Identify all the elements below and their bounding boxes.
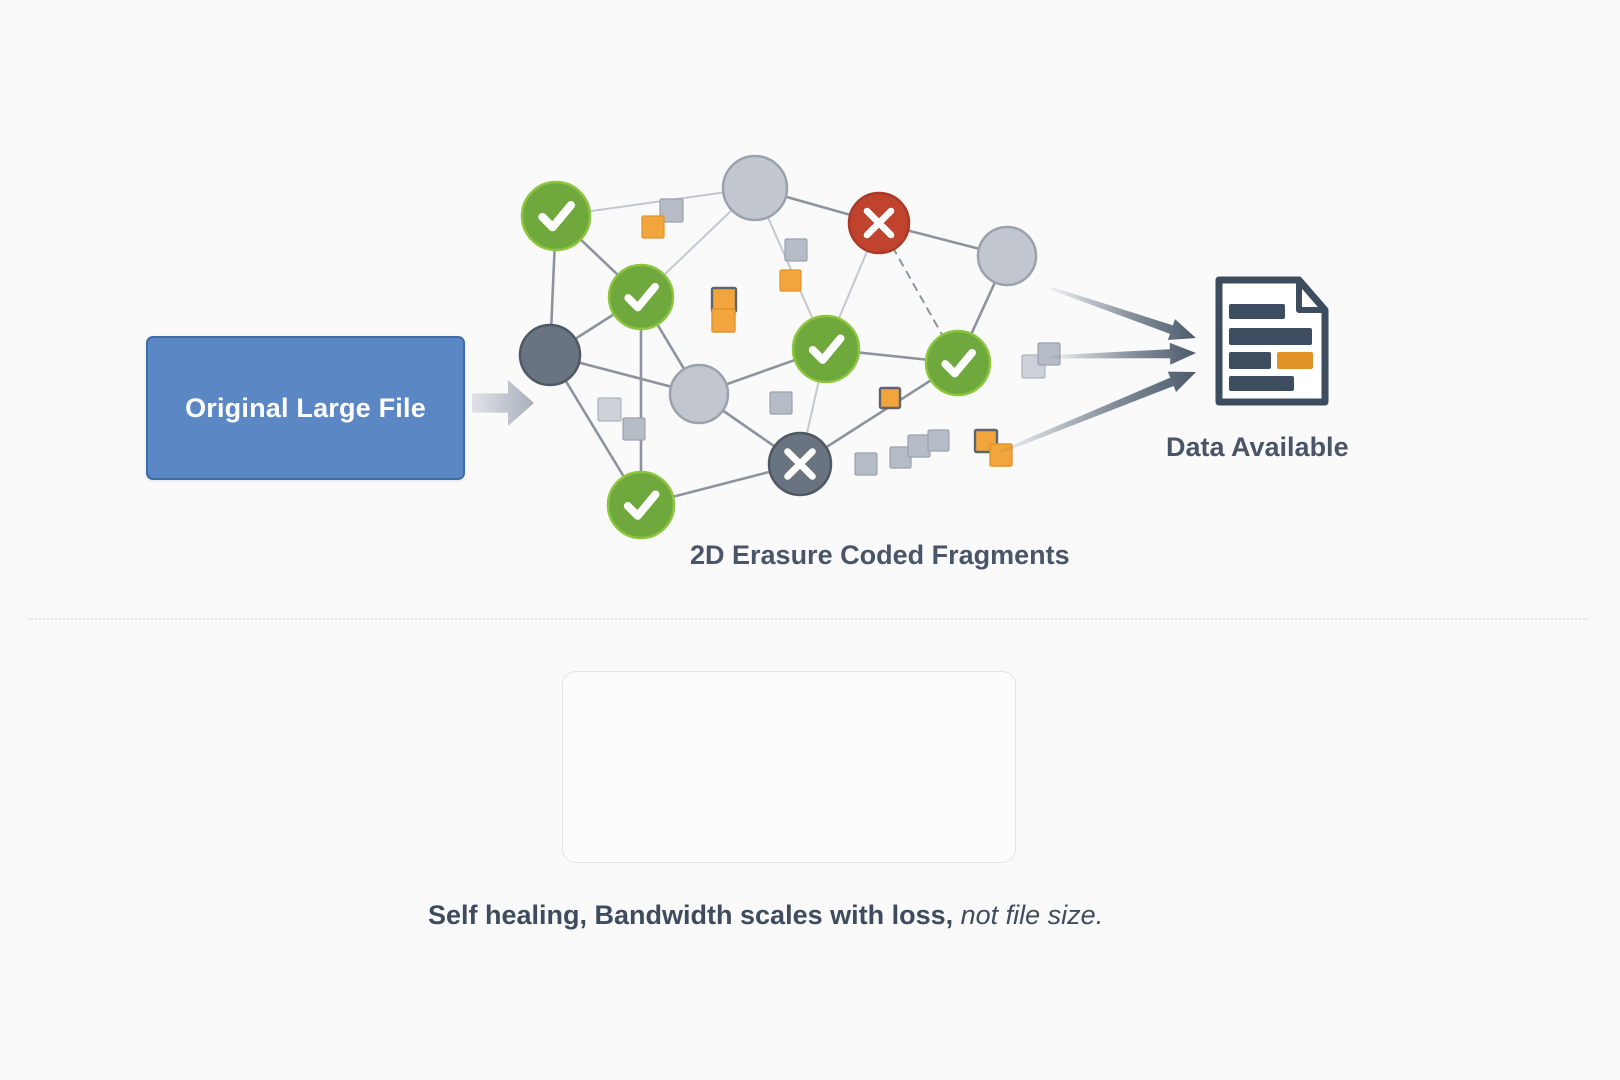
fragment-square <box>928 430 949 451</box>
section-divider <box>28 618 1588 620</box>
caption-italic: not file size. <box>961 900 1104 930</box>
document-line <box>1229 376 1294 391</box>
document-line <box>1229 352 1271 369</box>
fragment-square <box>880 388 900 408</box>
fragment-square <box>785 239 807 261</box>
data-available-label: Data Available <box>1166 432 1349 463</box>
node-circle <box>520 325 580 385</box>
node-circle <box>670 365 728 423</box>
diagram-canvas: Original Large File 2D Erasure Coded Fra… <box>0 0 1620 1080</box>
arrow-shape <box>1050 343 1196 365</box>
fragment-square <box>770 392 792 414</box>
document-line <box>1277 352 1313 369</box>
document-icon[interactable] <box>1219 280 1325 402</box>
graph-node-g2[interactable] <box>609 265 673 329</box>
document-line <box>1229 328 1312 345</box>
fragment-square <box>908 435 930 457</box>
node-circle <box>793 316 859 382</box>
fragment-square <box>1038 343 1060 365</box>
fragment-square <box>623 418 645 440</box>
document-line <box>1229 304 1285 319</box>
node-circle <box>608 472 674 538</box>
self-healing-panel <box>562 671 1016 863</box>
graph-node-g3[interactable] <box>793 316 859 382</box>
graph-node-d2[interactable] <box>769 433 831 495</box>
graph-node-g5[interactable] <box>608 472 674 538</box>
graph-node-l1[interactable] <box>723 156 787 220</box>
converging-arrow <box>1049 287 1196 340</box>
node-circle <box>978 227 1036 285</box>
node-circle <box>522 182 590 250</box>
fragments-label: 2D Erasure Coded Fragments <box>690 540 1070 571</box>
caption: Self healing, Bandwidth scales with loss… <box>428 900 1103 931</box>
fragment-square <box>642 216 664 238</box>
node-circle <box>609 265 673 329</box>
graph-node-l2[interactable] <box>978 227 1036 285</box>
fragment-square <box>780 270 801 291</box>
graph-node-d1[interactable] <box>520 325 580 385</box>
graph-nodes <box>520 156 1036 538</box>
graph-node-l3[interactable] <box>670 365 728 423</box>
graph-node-g4[interactable] <box>926 331 990 395</box>
fragment-square <box>855 453 877 475</box>
arrow-shape <box>1049 287 1196 340</box>
converging-arrow <box>1050 343 1196 365</box>
fragment-square <box>712 309 735 332</box>
node-circle <box>723 156 787 220</box>
caption-main: Self healing, Bandwidth scales with loss… <box>428 900 961 930</box>
node-circle <box>926 331 990 395</box>
source-arrow-icon <box>472 380 534 426</box>
fragment-square <box>598 398 621 421</box>
graph-node-g1[interactable] <box>522 182 590 250</box>
graph-node-r1[interactable] <box>849 193 909 253</box>
